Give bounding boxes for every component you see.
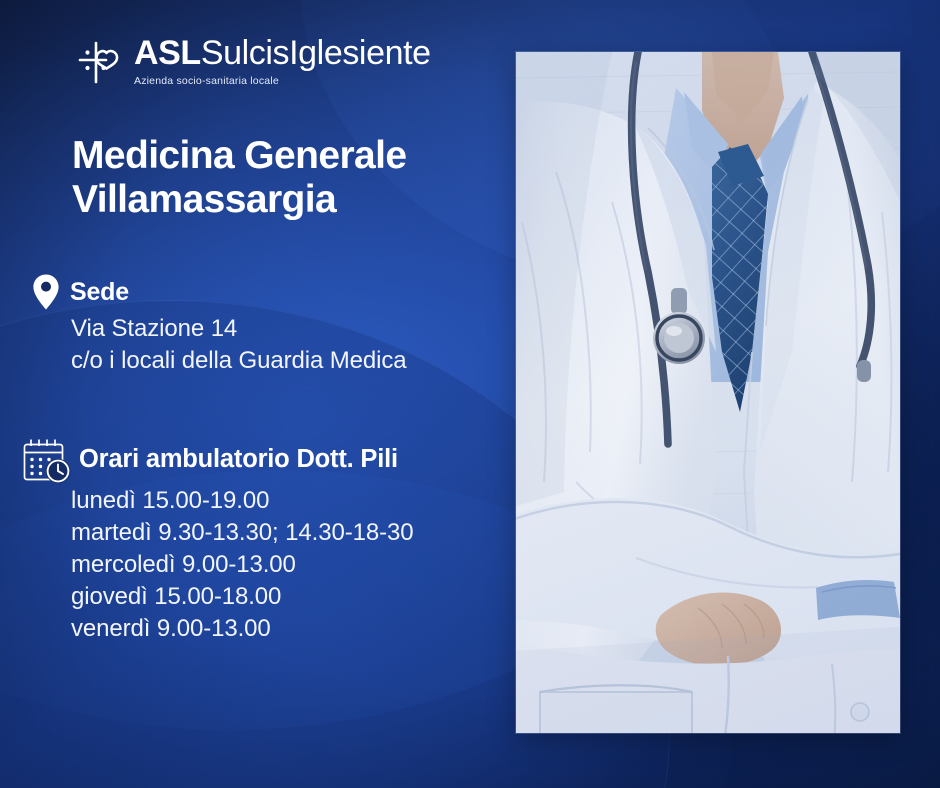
page-title-line2: Villamassargia (72, 178, 502, 222)
orari-block: Orari ambulatorio Dott. Pili lunedì 15.0… (24, 440, 504, 645)
sede-line-1: Via Stazione 14 (71, 313, 501, 345)
sede-title: Sede (70, 276, 129, 307)
sede-header: Sede (31, 276, 501, 311)
brand-text: ASL SulcisIglesiente Azienda socio-sanit… (134, 36, 431, 87)
orari-title: Orari ambulatorio Dott. Pili (79, 440, 398, 474)
page-title: Medicina Generale Villamassargia (72, 134, 502, 222)
sede-block: Sede Via Stazione 14 c/o i locali della … (31, 276, 501, 377)
doctor-photo (516, 52, 900, 733)
orari-header: Orari ambulatorio Dott. Pili (24, 440, 504, 485)
orari-line-2: martedì 9.30-13.30; 14.30-18-30 (71, 517, 504, 549)
location-pin-icon (31, 273, 61, 311)
orari-lines: lunedì 15.00-19.00 martedì 9.30-13.30; 1… (24, 485, 504, 645)
sede-line-2: c/o i locali della Guardia Medica (71, 345, 501, 377)
brand-name-light: SulcisIglesiente (201, 36, 431, 70)
brand-logo: ASL SulcisIglesiente Azienda socio-sanit… (76, 36, 431, 87)
brand-name-bold: ASL (134, 36, 201, 70)
brand-tagline: Azienda socio-sanitaria locale (134, 75, 431, 87)
orari-line-3: mercoledì 9.00-13.00 (71, 549, 504, 581)
orari-line-4: giovedì 15.00-18.00 (71, 581, 504, 613)
orari-line-1: lunedì 15.00-19.00 (71, 485, 504, 517)
poster-canvas: ASL SulcisIglesiente Azienda socio-sanit… (0, 0, 940, 788)
calendar-clock-icon (22, 438, 74, 485)
orari-line-5: venerdì 9.00-13.00 (71, 613, 504, 645)
page-title-line1: Medicina Generale (72, 134, 502, 178)
asl-cross-heart-logo-icon (76, 37, 120, 87)
sede-lines: Via Stazione 14 c/o i locali della Guard… (31, 313, 501, 377)
